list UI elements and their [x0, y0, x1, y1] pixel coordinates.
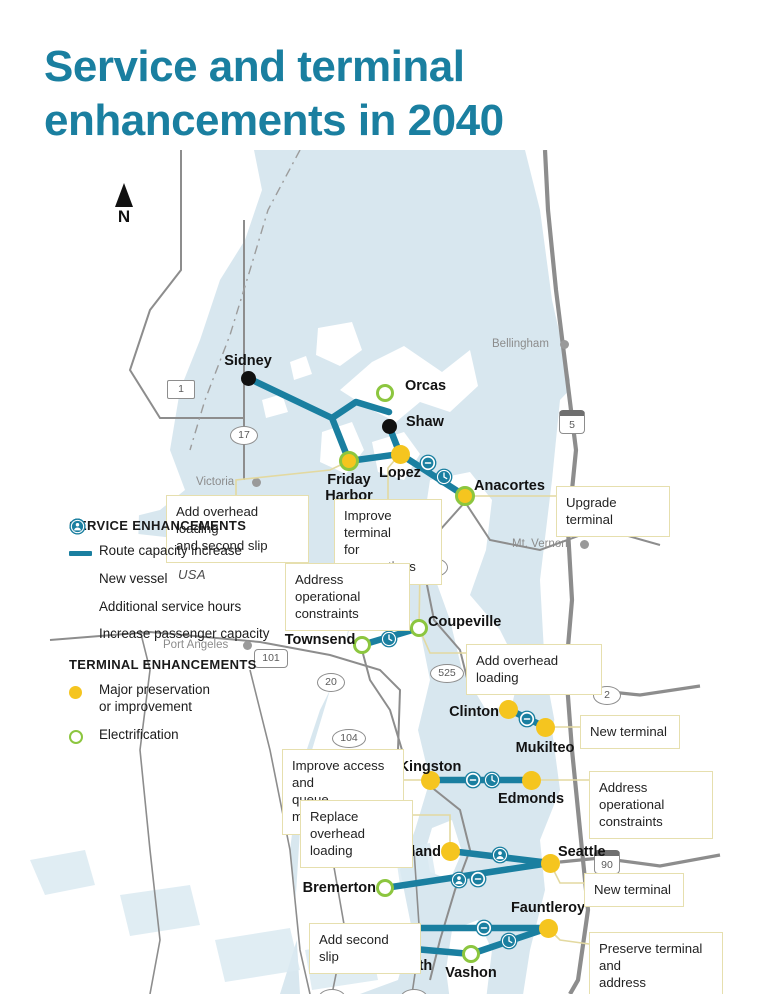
callout-anacortes[interactable]: Upgrade terminal — [556, 486, 670, 537]
north-label: N — [104, 208, 144, 225]
clock-icon[interactable] — [380, 630, 398, 648]
legend-terminal-heading: TERMINAL ENHANCEMENTS — [69, 657, 304, 672]
terminal-label-lopez: Lopez — [365, 465, 435, 481]
page-title: Service and terminal enhancements in 204… — [44, 40, 664, 147]
clock-icon[interactable] — [435, 468, 453, 486]
new-vessel-icon[interactable] — [518, 710, 536, 728]
yellow-dot-icon — [69, 682, 99, 699]
route-line-icon — [69, 543, 99, 556]
callout-southworth[interactable]: Add second slip — [309, 923, 421, 974]
callout-seattle[interactable]: New terminal — [584, 873, 684, 907]
terminal-label-clinton: Clinton — [419, 704, 499, 720]
terminal-label-sidney: Sidney — [203, 353, 293, 369]
terminal-marker-clinton[interactable] — [499, 700, 518, 719]
terminal-label-seattle: Seattle — [558, 844, 606, 860]
callout-fauntleroy[interactable]: Preserve terminal and address constraint… — [589, 932, 723, 994]
legend-service-heading: SERVICE ENHANCEMENTS — [69, 518, 304, 533]
terminal-marker-edmonds[interactable] — [522, 771, 541, 790]
terminal-marker-anacortes[interactable] — [455, 486, 475, 506]
terminal-marker-vashon[interactable] — [462, 945, 480, 963]
terminal-marker-orcas[interactable] — [376, 384, 394, 402]
legend-label: Route capacity increase — [99, 543, 242, 560]
legend-item-new-vessel: New vessel — [69, 571, 304, 588]
terminal-marker-friday-harbor[interactable] — [339, 451, 359, 471]
callout-coupeville[interactable]: Add overhead loading — [466, 644, 602, 695]
terminal-marker-sidney[interactable] — [241, 371, 256, 386]
legend-label: Additional service hours — [99, 599, 241, 616]
new-vessel-icon — [69, 571, 99, 572]
terminal-label-edmonds: Edmonds — [483, 791, 579, 807]
terminal-marker-shaw[interactable] — [382, 419, 397, 434]
terminal-marker-mukilteo[interactable] — [536, 718, 555, 737]
title-line-1: Service and terminal — [44, 42, 464, 91]
terminal-label-vashon: Vashon — [431, 965, 511, 981]
passenger-icon[interactable] — [450, 871, 468, 889]
terminal-label-bremerton: Bremerton — [266, 880, 376, 896]
callout-mukilteo[interactable]: New terminal — [580, 715, 680, 749]
legend-label: Electrification — [99, 727, 179, 744]
clock-icon[interactable] — [500, 932, 518, 950]
map-canvas[interactable]: N BellinghamVictoriaMt. VernonPort Angel… — [0, 150, 768, 994]
title-line-2: enhancements in 2040 — [44, 94, 664, 148]
legend-item-service-hours: Additional service hours — [69, 599, 304, 616]
legend: SERVICE ENHANCEMENTS Route capacity incr… — [69, 518, 304, 755]
green-ring-icon — [69, 727, 99, 744]
terminal-marker-coupeville[interactable] — [410, 619, 428, 637]
legend-label: New vessel — [99, 571, 167, 588]
terminal-label-anacortes: Anacortes — [474, 478, 545, 494]
new-vessel-icon[interactable] — [475, 919, 493, 937]
terminal-label-shaw: Shaw — [406, 414, 444, 430]
terminal-marker-bremerton[interactable] — [376, 879, 394, 897]
passenger-icon — [69, 626, 99, 627]
north-arrow-icon: N — [104, 183, 144, 225]
terminal-marker-fauntleroy[interactable] — [539, 919, 558, 938]
map-poster: Service and terminal enhancements in 204… — [0, 0, 768, 994]
legend-label: Major preservation or improvement — [99, 682, 210, 716]
terminal-marker-seattle[interactable] — [541, 854, 560, 873]
legend-label: Increase passenger capacity — [99, 626, 269, 643]
terminal-label-mukilteo: Mukilteo — [497, 740, 593, 756]
new-vessel-icon[interactable] — [469, 870, 487, 888]
clock-icon — [69, 599, 99, 600]
clock-icon[interactable] — [483, 771, 501, 789]
callout-edmonds[interactable]: Address operational constraints — [589, 771, 713, 839]
passenger-icon[interactable] — [491, 846, 509, 864]
legend-item-major-preservation: Major preservation or improvement — [69, 682, 304, 716]
legend-item-electrification: Electrification — [69, 727, 304, 744]
legend-item-route-capacity: Route capacity increase — [69, 543, 304, 560]
terminal-label-coupeville: Coupeville — [428, 614, 501, 630]
callout-bainbridge[interactable]: Replace overhead loading — [300, 800, 413, 868]
terminal-marker-lopez[interactable] — [391, 445, 410, 464]
terminal-label-orcas: Orcas — [405, 378, 446, 394]
terminal-marker-bainbridge-island[interactable] — [441, 842, 460, 861]
north-arrow-triangle — [115, 183, 133, 207]
legend-item-passenger-capacity: Increase passenger capacity — [69, 626, 304, 643]
